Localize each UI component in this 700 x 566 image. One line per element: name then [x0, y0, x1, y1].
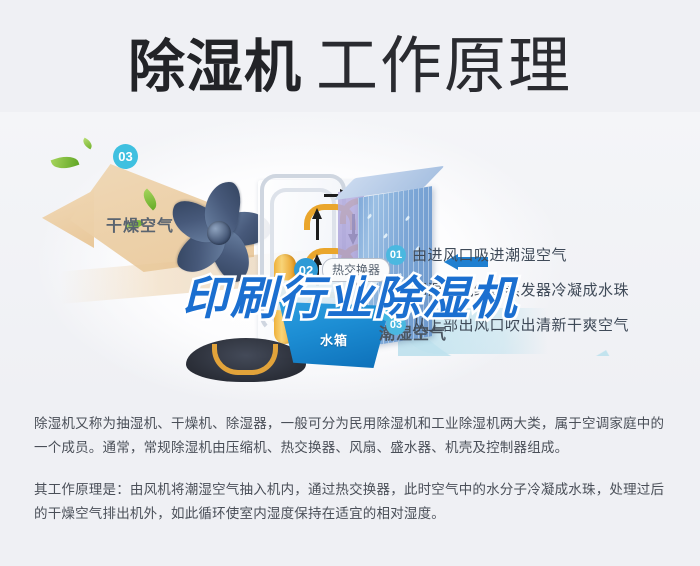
page-title: 除湿机 工作原理	[0, 28, 700, 106]
description-paragraph-2: 其工作原理是：由风机将潮湿空气抽入机内，通过热交换器，此时空气中的水分子冷凝成水…	[34, 478, 668, 526]
water-tank-label: 水箱	[320, 330, 348, 349]
page-title-primary: 除湿机	[128, 39, 302, 96]
page-title-secondary: 工作原理	[316, 36, 572, 98]
flow-arrow-up-icon	[312, 208, 322, 219]
watermark-text: 印刷行业除湿机	[182, 262, 518, 328]
fan-hub	[207, 221, 231, 245]
infographic-page: 除湿机 工作原理	[0, 0, 700, 566]
flow-arrow-stem	[316, 218, 319, 240]
watermark-overlay: 印刷行业除湿机	[0, 262, 700, 328]
dry-air-label: 干燥空气	[106, 212, 174, 236]
description-paragraph-1: 除湿机又称为抽湿机、干燥机、除湿器，一般可分为民用除湿机和工业除湿机两大类，属于…	[34, 412, 668, 460]
description-text: 除湿机又称为抽湿机、干燥机、除湿器，一般可分为民用除湿机和工业除湿机两大类，属于…	[34, 412, 668, 526]
diagram-badge-03: 03	[113, 144, 138, 169]
